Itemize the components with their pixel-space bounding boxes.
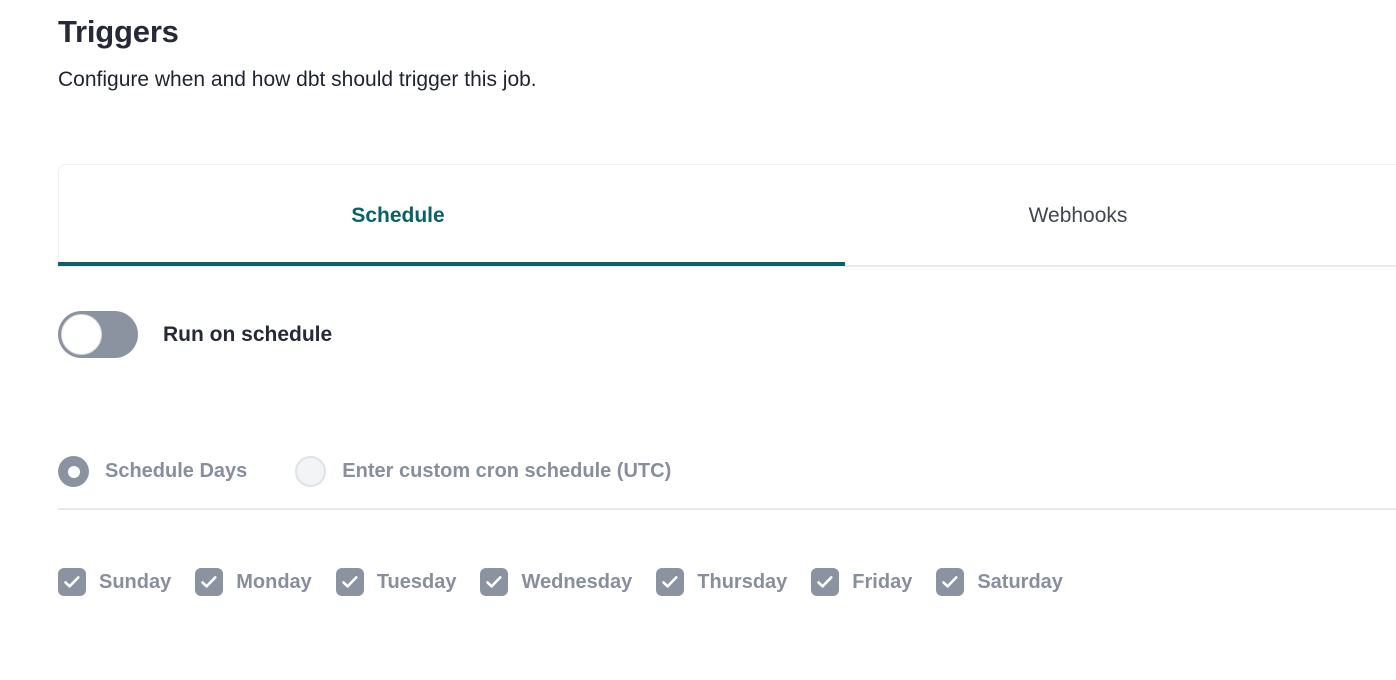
check-icon <box>656 568 684 596</box>
check-icon <box>480 568 508 596</box>
radio-unselected-icon <box>295 456 326 487</box>
day-label: Thursday <box>697 571 787 594</box>
section-divider <box>58 508 1396 510</box>
day-label: Sunday <box>99 571 171 594</box>
toggle-knob-icon <box>61 314 102 355</box>
day-label: Saturday <box>977 571 1063 594</box>
page-title: Triggers <box>58 12 1258 52</box>
run-on-schedule-row: Run on schedule <box>58 311 332 358</box>
radio-schedule-days-label: Schedule Days <box>105 460 247 483</box>
check-icon <box>336 568 364 596</box>
check-icon <box>936 568 964 596</box>
run-on-schedule-toggle[interactable] <box>58 311 138 358</box>
tab-webhooks[interactable]: Webhooks <box>738 164 1396 268</box>
schedule-days-group: Sunday Monday Tuesday <box>58 568 1063 596</box>
run-on-schedule-label: Run on schedule <box>163 323 332 347</box>
day-checkbox-monday[interactable]: Monday <box>195 568 312 596</box>
page-header: Triggers Configure when and how dbt shou… <box>58 12 1258 95</box>
day-label: Tuesday <box>377 571 457 594</box>
day-checkbox-sunday[interactable]: Sunday <box>58 568 171 596</box>
day-checkbox-tuesday[interactable]: Tuesday <box>336 568 457 596</box>
schedule-mode-radio-group: Schedule Days Enter custom cron schedule… <box>58 456 671 487</box>
day-label: Friday <box>852 571 912 594</box>
tab-schedule[interactable]: Schedule <box>58 164 738 268</box>
day-checkbox-saturday[interactable]: Saturday <box>936 568 1063 596</box>
day-label: Wednesday <box>521 571 632 594</box>
tabstrip: Schedule Webhooks <box>58 164 1396 268</box>
check-icon <box>58 568 86 596</box>
check-icon <box>811 568 839 596</box>
page-subtitle: Configure when and how dbt should trigge… <box>58 52 1258 95</box>
radio-schedule-days[interactable]: Schedule Days <box>58 456 247 487</box>
radio-selected-icon <box>58 456 89 487</box>
day-checkbox-friday[interactable]: Friday <box>811 568 912 596</box>
day-checkbox-thursday[interactable]: Thursday <box>656 568 787 596</box>
day-checkbox-wednesday[interactable]: Wednesday <box>480 568 632 596</box>
check-icon <box>195 568 223 596</box>
triggers-page: Triggers Configure when and how dbt shou… <box>0 0 1396 680</box>
radio-custom-cron[interactable]: Enter custom cron schedule (UTC) <box>295 456 671 487</box>
radio-custom-cron-label: Enter custom cron schedule (UTC) <box>342 460 671 483</box>
day-label: Monday <box>236 571 312 594</box>
